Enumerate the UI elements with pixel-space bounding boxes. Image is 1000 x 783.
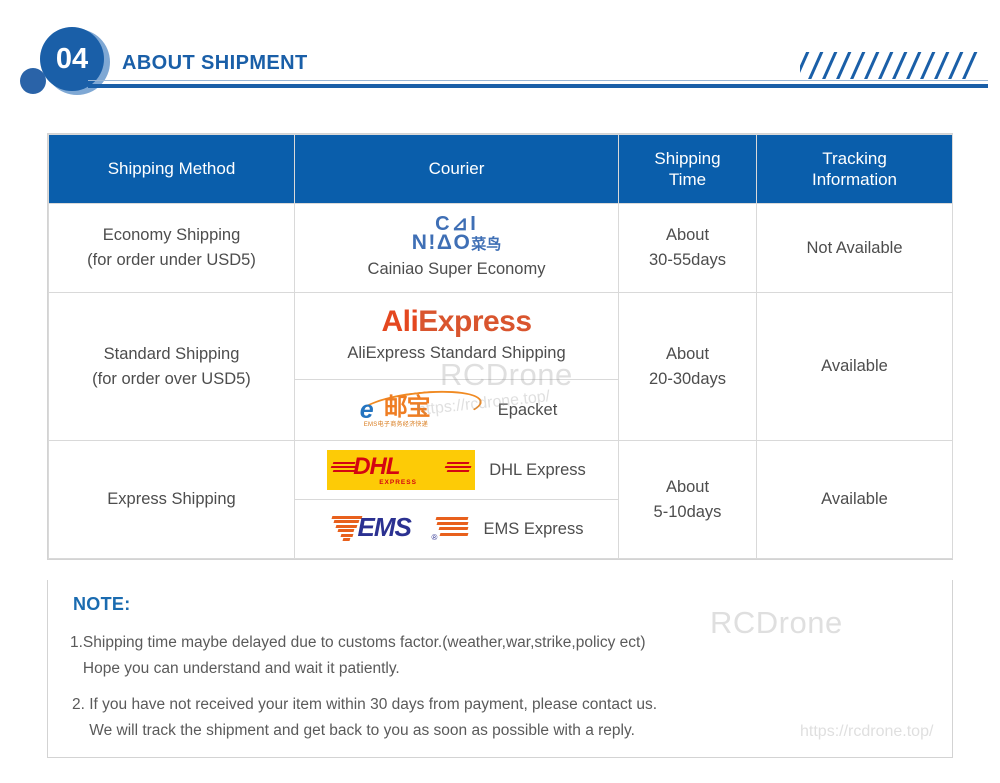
method-line1: Standard Shipping bbox=[49, 342, 294, 367]
method-line1: Express Shipping bbox=[49, 487, 294, 512]
time-line2: 20-30days bbox=[619, 367, 756, 392]
cell-courier-ems: EMS ® EMS Express bbox=[295, 500, 619, 559]
column-header-courier: Courier bbox=[295, 135, 619, 204]
header-divider-thin bbox=[88, 80, 988, 81]
epacket-logo: e 邮宝 EMS电子商务经济快递 bbox=[356, 390, 484, 430]
time-line1: About bbox=[619, 342, 756, 367]
cell-courier-aliexpress: AliExpress AliExpress Standard Shipping bbox=[295, 293, 619, 380]
time-line1: About bbox=[619, 475, 756, 500]
cell-shipping-time-economy: About 30-55days bbox=[619, 204, 757, 293]
method-line2: (for order under USD5) bbox=[49, 248, 294, 273]
ems-logo-text: EMS bbox=[358, 514, 411, 540]
ems-logo-bars bbox=[436, 517, 468, 537]
time-line2: 5-10days bbox=[619, 500, 756, 525]
column-header-shipping-time-line1: Shipping bbox=[619, 148, 756, 169]
column-header-tracking-information: Tracking Information bbox=[757, 135, 953, 204]
section-number-badge: 04 bbox=[18, 27, 128, 99]
header-divider bbox=[88, 84, 988, 88]
badge-number-label: 04 bbox=[56, 45, 88, 74]
courier-label-aliexpress: AliExpress Standard Shipping bbox=[295, 341, 618, 366]
dhl-logo-bars-right bbox=[445, 462, 471, 473]
cainiao-logo-line2: N!ΔO bbox=[412, 231, 472, 254]
cell-shipping-method-express: Express Shipping bbox=[49, 441, 295, 559]
cainiao-logo: C⊿I N!ΔO菜鸟 bbox=[295, 215, 618, 253]
cell-tracking-standard: Available bbox=[757, 293, 953, 441]
note-item-1: 1.Shipping time maybe delayed due to cus… bbox=[70, 630, 646, 681]
cell-courier-dhl: DHL EXPRESS DHL Express bbox=[295, 441, 619, 500]
page-title: ABOUT SHIPMENT bbox=[122, 52, 308, 75]
shipping-table: Shipping Method Courier Shipping Time Tr… bbox=[48, 134, 953, 559]
badge-circle: 04 bbox=[40, 27, 104, 91]
cell-shipping-method-standard: Standard Shipping (for order over USD5) bbox=[49, 293, 295, 441]
note-title: NOTE: bbox=[73, 594, 131, 615]
dhl-logo: DHL EXPRESS bbox=[327, 450, 475, 490]
aliexpress-logo: AliExpress bbox=[295, 307, 618, 337]
table-row: Economy Shipping (for order under USD5) … bbox=[49, 204, 953, 293]
note-section: NOTE: 1.Shipping time maybe delayed due … bbox=[47, 580, 953, 758]
time-line1: About bbox=[619, 223, 756, 248]
courier-label-epacket: Epacket bbox=[498, 398, 558, 423]
method-line1: Economy Shipping bbox=[49, 223, 294, 248]
aliexpress-logo-part1: Ali bbox=[381, 305, 418, 338]
cell-courier-epacket: e 邮宝 EMS电子商务经济快递 Epacket bbox=[295, 380, 619, 441]
cainiao-logo-cn: 菜鸟 bbox=[471, 236, 501, 253]
section-header: 04 ABOUT SHIPMENT bbox=[0, 0, 1000, 110]
dhl-logo-sub: EXPRESS bbox=[379, 478, 417, 488]
column-header-tracking-line1: Tracking bbox=[757, 148, 952, 169]
column-header-shipping-time: Shipping Time bbox=[619, 135, 757, 204]
courier-label-cainiao: Cainiao Super Economy bbox=[295, 257, 618, 282]
shipping-table-container: Shipping Method Courier Shipping Time Tr… bbox=[47, 133, 953, 560]
column-header-shipping-method: Shipping Method bbox=[49, 135, 295, 204]
table-header-row: Shipping Method Courier Shipping Time Tr… bbox=[49, 135, 953, 204]
aliexpress-logo-part2: Express bbox=[418, 305, 531, 338]
cell-shipping-time-standard: About 20-30days bbox=[619, 293, 757, 441]
column-header-tracking-line2: Information bbox=[757, 169, 952, 190]
time-line2: 30-55days bbox=[619, 248, 756, 273]
epacket-logo-sub: EMS电子商务经济快递 bbox=[364, 421, 428, 430]
table-row: Express Shipping DHL EXPRESS DHL Express… bbox=[49, 441, 953, 500]
courier-label-dhl: DHL Express bbox=[489, 458, 586, 483]
table-header: Shipping Method Courier Shipping Time Tr… bbox=[49, 135, 953, 204]
courier-label-ems: EMS Express bbox=[484, 517, 584, 542]
cell-tracking-express: Available bbox=[757, 441, 953, 559]
epacket-logo-cn: 邮宝 bbox=[384, 396, 430, 420]
epacket-logo-e: e bbox=[360, 398, 374, 423]
cell-courier-cainiao: C⊿I N!ΔO菜鸟 Cainiao Super Economy bbox=[295, 204, 619, 293]
ems-logo: EMS ® bbox=[330, 510, 470, 548]
table-row: Standard Shipping (for order over USD5) … bbox=[49, 293, 953, 380]
cell-shipping-method-economy: Economy Shipping (for order under USD5) bbox=[49, 204, 295, 293]
dhl-logo-text: DHL bbox=[353, 455, 399, 479]
note-item-2: 2. If you have not received your item wi… bbox=[72, 692, 657, 743]
method-line2: (for order over USD5) bbox=[49, 367, 294, 392]
cell-shipping-time-express: About 5-10days bbox=[619, 441, 757, 559]
column-header-shipping-time-line2: Time bbox=[619, 169, 756, 190]
table-body: Economy Shipping (for order under USD5) … bbox=[49, 204, 953, 559]
cell-tracking-economy: Not Available bbox=[757, 204, 953, 293]
decorative-hatch-lines bbox=[800, 52, 986, 79]
